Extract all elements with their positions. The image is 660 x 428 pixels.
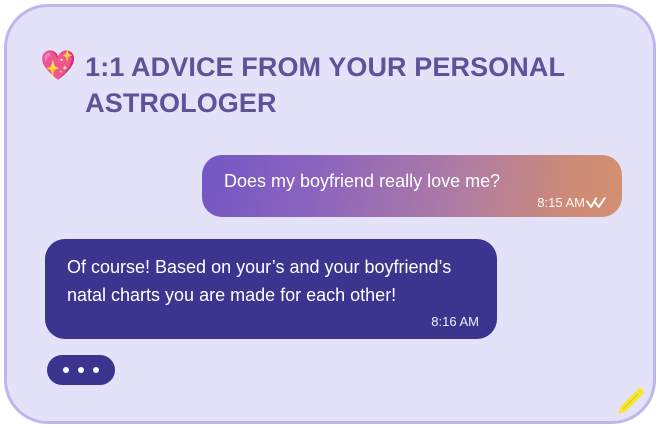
message-text: Does my boyfriend really love me? [224,169,600,193]
header: 💖 1:1 ADVICE FROM YOUR PERSONAL ASTROLOG… [40,49,600,121]
message-timestamp: 8:15 AM [537,195,585,210]
typing-dot [93,367,99,373]
typing-indicator [47,355,115,385]
message-bubble-outgoing[interactable]: Does my boyfriend really love me? 8:15 A… [202,155,622,217]
message-text: Of course! Based on your’s and your boyf… [67,253,475,309]
chat-card: 💖 1:1 ADVICE FROM YOUR PERSONAL ASTROLOG… [4,4,656,424]
message-bubble-incoming[interactable]: Of course! Based on your’s and your boyf… [45,239,497,339]
pencil-icon [611,381,651,421]
page-title: 1:1 ADVICE FROM YOUR PERSONAL ASTROLOGER [85,49,575,121]
message-meta: 8:16 AM [431,313,479,331]
message-timestamp: 8:16 AM [431,314,479,329]
typing-dot [78,367,84,373]
typing-dot [63,367,69,373]
sparkling-heart-icon: 💖 [40,49,76,83]
message-meta: 8:15 AM [537,195,606,210]
double-check-icon [586,196,606,209]
